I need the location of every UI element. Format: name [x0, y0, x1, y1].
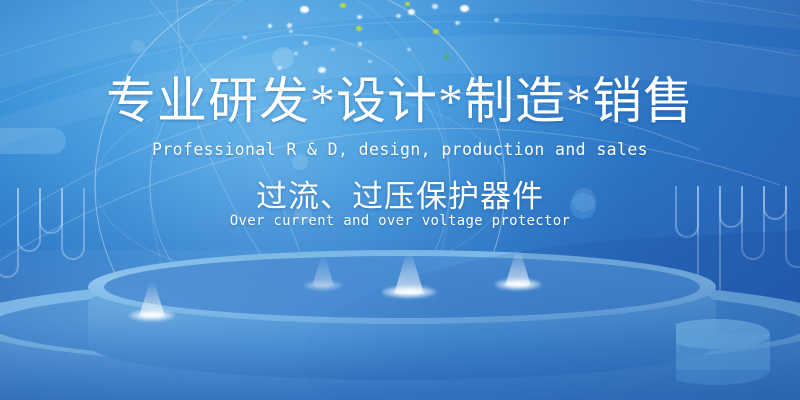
- particle-dot: [405, 2, 410, 6]
- particle-dot: [433, 29, 439, 34]
- particle-dot: [303, 41, 308, 45]
- light-beam-2: [374, 252, 444, 308]
- particle-dot: [289, 30, 293, 33]
- subtitle-english: Over current and over voltage protector: [0, 211, 800, 231]
- particle-dot: [357, 15, 362, 19]
- light-beam-1: [122, 282, 182, 328]
- particle-dot: [287, 23, 292, 28]
- decor-cylinder-right: [676, 318, 800, 398]
- particle-dot: [268, 24, 272, 28]
- particle-dot: [331, 48, 335, 51]
- particle-dot: [243, 36, 247, 39]
- particle-dot: [407, 48, 411, 51]
- headline-english: Professional R & D, design, production a…: [0, 139, 800, 161]
- particle-dot: [444, 55, 449, 59]
- particle-dot: [494, 18, 499, 22]
- particle-dot: [460, 5, 469, 12]
- light-beam-4: [296, 256, 350, 300]
- particle-dot: [277, 66, 282, 70]
- particle-dot: [358, 42, 362, 46]
- particle-dot: [455, 21, 460, 25]
- promo-banner: 专业研发*设计*制造*销售 Professional R & D, design…: [0, 0, 800, 400]
- particle-dot: [340, 3, 346, 8]
- particle-dot: [432, 4, 438, 9]
- light-beam-3: [486, 250, 550, 300]
- particle-dot: [294, 52, 298, 55]
- particle-dot: [300, 6, 309, 13]
- particle-dot: [408, 9, 415, 15]
- particle-dot: [356, 26, 362, 31]
- particle-dot: [396, 14, 401, 18]
- headline-chinese: 专业研发*设计*制造*销售: [0, 72, 800, 130]
- particle-dot: [368, 60, 372, 63]
